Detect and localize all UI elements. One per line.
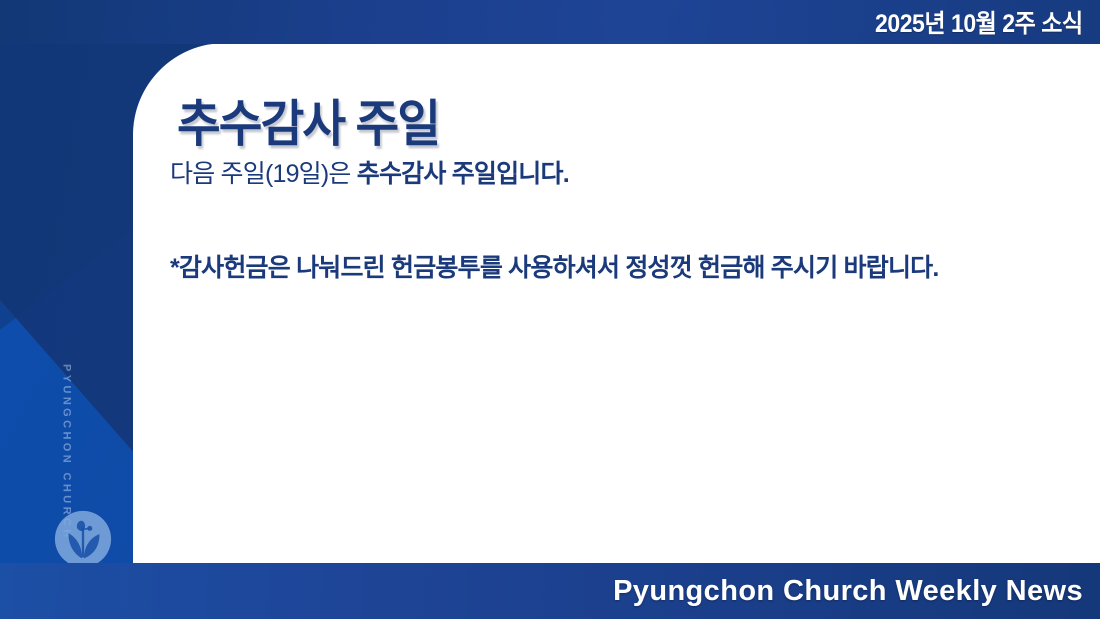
footer-title: Pyungchon Church Weekly News [613,575,1083,608]
content-card: 추수감사 주일 다음 주일(19일)은 추수감사 주일입니다. *감사헌금은 나… [133,43,1100,563]
weekly-news-slide: 2025년 10월 2주 소식 추수감사 주일 다음 주일(19일)은 추수감사… [0,0,1100,619]
church-leaf-emblem-icon [52,508,114,570]
body-line-1-segment-1: 다음 주일(19일)은 [170,160,357,188]
footer-bar: Pyungchon Church Weekly News [0,563,1100,619]
body-line-1: 다음 주일(19일)은 추수감사 주일입니다. [170,158,1070,190]
content-body: 다음 주일(19일)은 추수감사 주일입니다. *감사헌금은 나눠드린 헌금봉투… [170,158,1070,284]
header-date-label: 2025년 10월 2주 소식 [875,4,1083,40]
body-line-2-segment-1: *감사헌금은 나눠드린 헌금봉투를 사용하셔서 정성껏 헌금해 주시기 바랍니다… [170,254,939,282]
page-title: 추수감사 주일 [177,84,439,156]
header-bar: 2025년 10월 2주 소식 [0,0,1100,44]
body-line-2: *감사헌금은 나눠드린 헌금봉투를 사용하셔서 정성껏 헌금해 주시기 바랍니다… [170,252,1070,284]
body-line-1-segment-2: 추수감사 주일입니다. [357,160,569,188]
